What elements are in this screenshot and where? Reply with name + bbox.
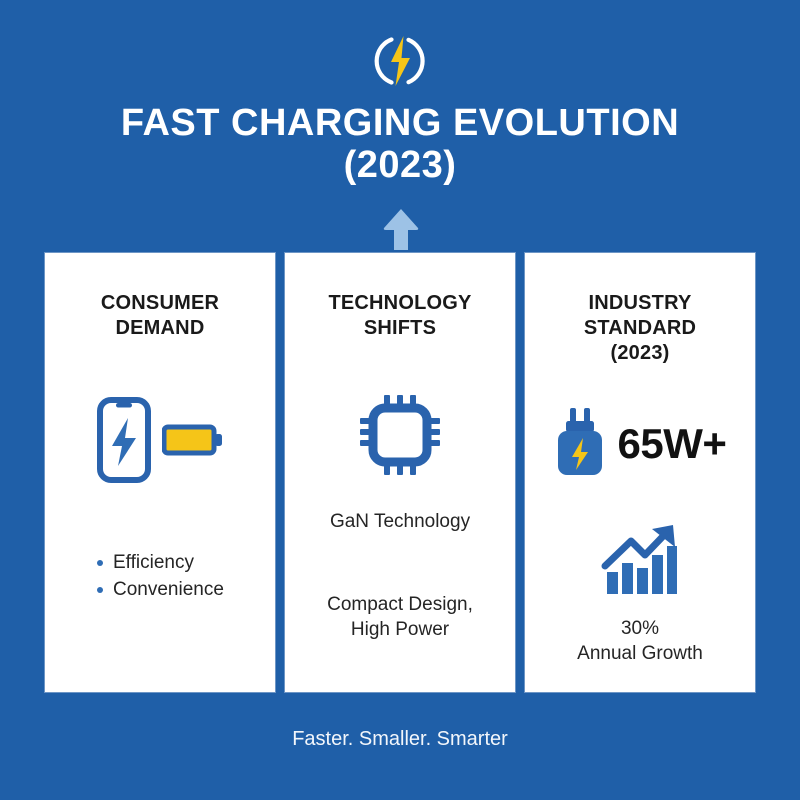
growth-caption: 30% Annual Growth bbox=[577, 616, 703, 666]
card-title-line2: DEMAND bbox=[101, 316, 219, 341]
card-icons bbox=[96, 397, 224, 487]
growth-chart-icon bbox=[601, 522, 679, 601]
card-title-line2: (2023) bbox=[539, 341, 741, 366]
growth-caption-line2: Annual Growth bbox=[577, 643, 703, 664]
stat-value: 65W+ bbox=[618, 423, 727, 465]
up-arrow-icon bbox=[381, 237, 421, 254]
card-technology-shifts[interactable]: TECHNOLOGY SHIFTS bbox=[285, 253, 515, 692]
connector-arrow bbox=[381, 208, 421, 250]
card-title-line1: TECHNOLOGY bbox=[328, 292, 471, 314]
caption-secondary-line1: Compact Design, bbox=[327, 594, 473, 615]
battery-icon bbox=[162, 420, 224, 465]
growth-icon-slot bbox=[601, 524, 679, 598]
header: FAST CHARGING EVOLUTION (2023) bbox=[0, 0, 800, 186]
card-title: CONSUMER DEMAND bbox=[101, 291, 219, 341]
card-industry-standard[interactable]: INDUSTRY STANDARD (2023) 65W+ bbox=[525, 253, 755, 692]
lightning-bolt-circle-icon bbox=[371, 32, 429, 95]
logo-wrap bbox=[0, 32, 800, 94]
smartphone-charging-icon bbox=[96, 396, 152, 489]
growth-caption-line1: 30% bbox=[621, 618, 659, 639]
card-title: TECHNOLOGY SHIFTS bbox=[328, 291, 471, 341]
page-title: FAST CHARGING EVOLUTION (2023) bbox=[0, 102, 800, 186]
card-title-line1: INDUSTRY STANDARD bbox=[584, 292, 696, 339]
card-title-line2: SHIFTS bbox=[328, 316, 471, 341]
card-consumer-demand[interactable]: CONSUMER DEMAND Efficiency bbox=[45, 253, 275, 692]
power-adapter-icon bbox=[554, 407, 606, 482]
footer-tagline: Faster. Smaller. Smarter bbox=[0, 728, 800, 751]
card-title-line1: CONSUMER bbox=[101, 292, 219, 314]
cpu-chip-icon bbox=[358, 393, 442, 482]
bullet-list: Efficiency Convenience bbox=[97, 549, 224, 603]
stat-row: 65W+ bbox=[554, 408, 727, 480]
cards-row: CONSUMER DEMAND Efficiency bbox=[45, 253, 755, 692]
caption-primary: GaN Technology bbox=[330, 509, 470, 534]
caption-secondary: Compact Design, High Power bbox=[327, 592, 473, 642]
card-icons bbox=[358, 391, 442, 483]
card-title: INDUSTRY STANDARD (2023) bbox=[539, 291, 741, 366]
caption-secondary-line2: High Power bbox=[351, 619, 449, 640]
page-title-line2: (2023) bbox=[0, 144, 800, 186]
list-item: Efficiency bbox=[97, 549, 224, 576]
list-item: Convenience bbox=[97, 576, 224, 603]
page-title-line1: FAST CHARGING EVOLUTION bbox=[121, 102, 679, 144]
